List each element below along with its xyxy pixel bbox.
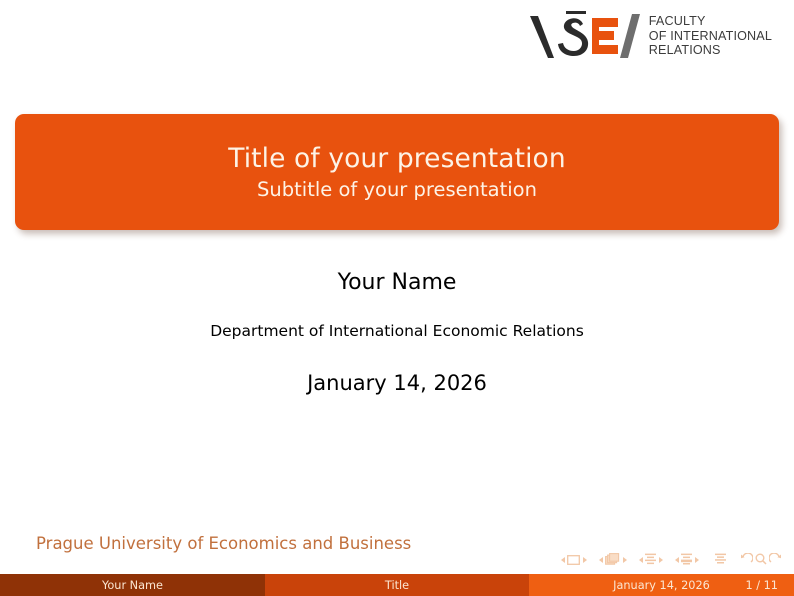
next-slide-arrow-icon[interactable] (583, 557, 587, 563)
prev-subsection-arrow-icon[interactable] (639, 557, 643, 563)
footer-bar: Your Name Title January 14, 2026 1 / 11 (0, 574, 794, 596)
nav-subsection-group[interactable] (636, 552, 665, 568)
page-subtitle: Subtitle of your presentation (257, 178, 537, 201)
prev-section-arrow-icon[interactable] (675, 557, 679, 563)
nav-section-group[interactable] (672, 552, 701, 568)
footer-title: Title (265, 574, 529, 596)
header-logo: FACULTY OF INTERNATIONAL RELATIONS (528, 8, 772, 64)
search-icon[interactable] (755, 552, 767, 568)
back-arrow-icon[interactable] (740, 552, 753, 568)
author-name: Your Name (0, 268, 794, 298)
nav-frame-group[interactable] (596, 552, 629, 568)
institution-name: Prague University of Economics and Busin… (36, 534, 411, 553)
footer-author: Your Name (0, 574, 265, 596)
beamer-navigation-bar[interactable] (551, 550, 782, 570)
faculty-line-2: OF INTERNATIONAL (649, 29, 772, 43)
footer-date-text: January 14, 2026 (613, 579, 710, 592)
faculty-line-1: FACULTY (649, 14, 772, 28)
frames-stack-icon[interactable] (605, 552, 620, 568)
next-frame-arrow-icon[interactable] (623, 557, 627, 563)
prev-frame-arrow-icon[interactable] (599, 557, 603, 563)
footer-page-number: 1 / 11 (745, 574, 778, 596)
footer-date-segment: January 14, 2026 1 / 11 (529, 574, 794, 596)
subsection-icon[interactable] (645, 552, 656, 568)
document-icon[interactable] (715, 552, 726, 568)
prev-slide-arrow-icon[interactable] (561, 557, 565, 563)
page-title: Title of your presentation (228, 143, 566, 174)
author-block: Your Name Department of International Ec… (0, 268, 794, 397)
faculty-line-3: RELATIONS (649, 43, 772, 57)
author-department: Department of International Economic Rel… (0, 320, 794, 342)
nav-document-group[interactable] (715, 552, 726, 568)
presentation-date: January 14, 2026 (0, 369, 794, 397)
slide-rectangle-icon[interactable] (567, 552, 580, 568)
title-banner: Title of your presentation Subtitle of y… (15, 114, 779, 230)
nav-history-group[interactable] (740, 552, 782, 568)
next-section-arrow-icon[interactable] (695, 557, 699, 563)
section-icon[interactable] (681, 552, 692, 568)
forward-arrow-icon[interactable] (769, 552, 782, 568)
faculty-name: FACULTY OF INTERNATIONAL RELATIONS (649, 14, 772, 57)
next-subsection-arrow-icon[interactable] (659, 557, 663, 563)
vse-logo-icon (528, 8, 646, 64)
nav-slide-group[interactable] (558, 552, 589, 568)
